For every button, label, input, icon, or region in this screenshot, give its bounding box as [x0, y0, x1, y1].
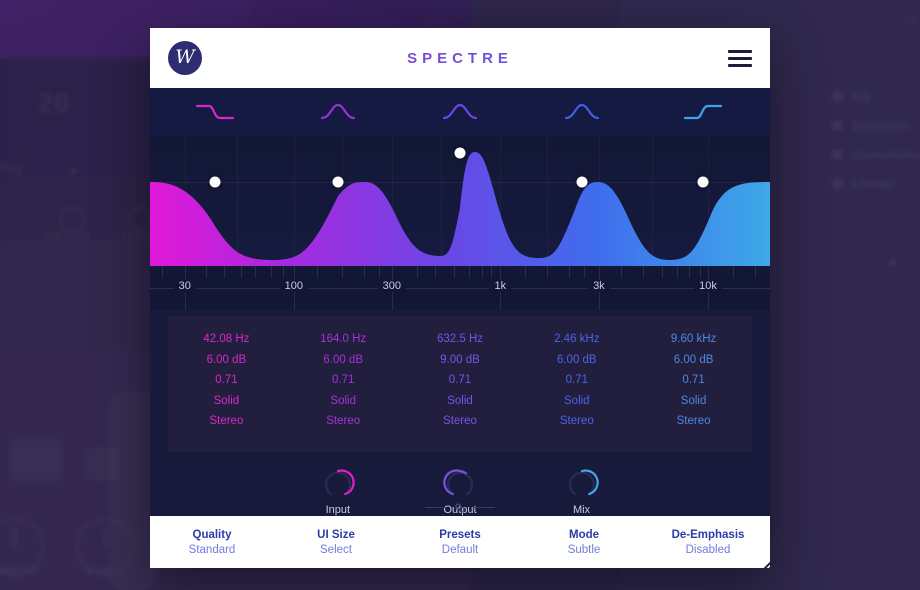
eq-band-node[interactable] — [332, 176, 343, 187]
band-channel-value: Stereo — [285, 414, 402, 430]
frequency-axis: 30 100 300 1k 3k 10k — [150, 266, 770, 310]
filter-shape-row — [150, 88, 770, 136]
band-q-value: 0.71 — [635, 373, 752, 389]
page-title: SPECTRE — [150, 50, 770, 67]
band-gain-value: 6.00 dB — [168, 353, 285, 369]
spectre-plugin-window: W SPECTRE — [150, 28, 770, 568]
setting-title: De-Emphasis — [646, 529, 770, 541]
hamburger-menu-icon[interactable] — [728, 50, 752, 67]
band-parameter-column-1[interactable]: 42.08 Hz 6.00 dB 0.71 Solid Stereo — [168, 332, 285, 430]
filter-shape-bell-icon[interactable] — [317, 99, 359, 125]
band-gain-value: 9.00 dB — [402, 353, 519, 369]
band-q-value: 0.71 — [518, 373, 635, 389]
setting-title: UI Size — [274, 529, 398, 541]
band-frequency-value: 2.46 kHz — [518, 332, 635, 348]
chain-link-icon[interactable] — [454, 502, 466, 514]
band-q-value: 0.71 — [285, 373, 402, 389]
eq-curve-graph[interactable] — [150, 136, 770, 266]
mix-knob-label: Mix — [573, 504, 590, 516]
band-slope-value: Solid — [635, 394, 752, 410]
setting-quality[interactable]: Quality Standard — [150, 529, 274, 556]
band-parameter-column-2[interactable]: 164.0 Hz 6.00 dB 0.71 Solid Stereo — [285, 332, 402, 430]
axis-tick-label: 30 — [174, 280, 196, 292]
setting-title: Presets — [398, 529, 522, 541]
setting-value: Standard — [150, 544, 274, 556]
band-channel-value: Stereo — [635, 414, 752, 430]
axis-tick-label: 3k — [588, 280, 610, 292]
input-knob-dial[interactable] — [321, 466, 355, 500]
band-gain-value: 6.00 dB — [285, 353, 402, 369]
link-dash-left — [425, 507, 447, 508]
axis-tick-label: 1k — [489, 280, 511, 292]
axis-tick-label: 300 — [378, 280, 406, 292]
plugin-header: W SPECTRE — [150, 28, 770, 88]
band-channel-value: Stereo — [168, 414, 285, 430]
band-parameter-column-3[interactable]: 632.5 Hz 9.00 dB 0.71 Solid Stereo — [402, 332, 519, 430]
band-channel-value: Stereo — [518, 414, 635, 430]
band-frequency-value: 164.0 Hz — [285, 332, 402, 348]
filter-shape-high-shelf-icon[interactable] — [682, 99, 724, 125]
eq-band-node[interactable] — [698, 176, 709, 187]
mix-knob-dial[interactable] — [565, 466, 599, 500]
setting-mode[interactable]: Mode Subtle — [522, 529, 646, 556]
link-dash-right — [473, 507, 495, 508]
mix-knob[interactable]: Mix — [565, 466, 599, 516]
band-q-value: 0.71 — [168, 373, 285, 389]
input-knob-label: Input — [326, 504, 350, 516]
eq-band-node[interactable] — [576, 176, 587, 187]
footer-settings-bar: Quality Standard UI Size Select Presets … — [150, 516, 770, 568]
band-frequency-value: 632.5 Hz — [402, 332, 519, 348]
setting-value: Select — [274, 544, 398, 556]
setting-title: Quality — [150, 529, 274, 541]
band-parameter-column-5[interactable]: 9.60 kHz 6.00 dB 0.71 Solid Stereo — [635, 332, 752, 430]
band-q-value: 0.71 — [402, 373, 519, 389]
filter-shape-bell-icon[interactable] — [439, 99, 481, 125]
axis-tick-label: 100 — [280, 280, 308, 292]
setting-presets[interactable]: Presets Default — [398, 529, 522, 556]
window-resize-grip[interactable] — [750, 548, 770, 568]
setting-ui-size[interactable]: UI Size Select — [274, 529, 398, 556]
band-slope-value: Solid — [168, 394, 285, 410]
band-gain-value: 6.00 dB — [518, 353, 635, 369]
band-slope-value: Solid — [285, 394, 402, 410]
band-slope-value: Solid — [402, 394, 519, 410]
band-frequency-value: 9.60 kHz — [635, 332, 752, 348]
band-slope-value: Solid — [518, 394, 635, 410]
band-channel-value: Stereo — [402, 414, 519, 430]
eq-band-node[interactable] — [455, 147, 466, 158]
input-knob[interactable]: Input — [321, 466, 355, 516]
band-gain-value: 6.00 dB — [635, 353, 752, 369]
setting-value: Default — [398, 544, 522, 556]
output-knob-dial[interactable] — [443, 466, 477, 500]
band-parameter-column-4[interactable]: 2.46 kHz 6.00 dB 0.71 Solid Stereo — [518, 332, 635, 430]
input-output-link-control[interactable] — [425, 502, 495, 514]
band-frequency-value: 42.08 Hz — [168, 332, 285, 348]
band-parameters-section: 42.08 Hz 6.00 dB 0.71 Solid Stereo 164.0… — [150, 310, 770, 458]
filter-shape-low-shelf-icon[interactable] — [194, 99, 236, 125]
setting-title: Mode — [522, 529, 646, 541]
axis-tick-label: 10k — [694, 280, 722, 292]
filter-shape-bell-icon[interactable] — [561, 99, 603, 125]
setting-value: Subtle — [522, 544, 646, 556]
eq-band-node[interactable] — [210, 176, 221, 187]
